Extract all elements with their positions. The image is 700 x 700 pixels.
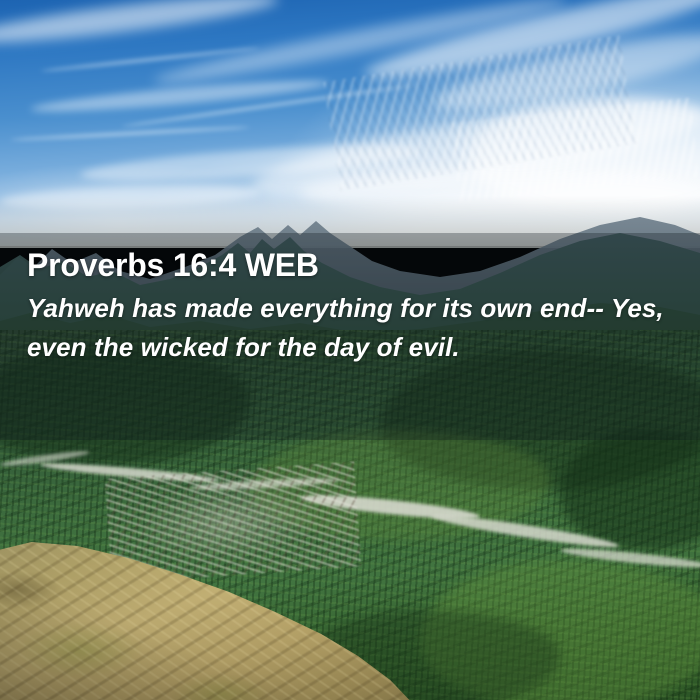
- verse-text-block: Proverbs 16:4 WEB Yahweh has made everyt…: [0, 233, 700, 440]
- verse-reference: Proverbs 16:4 WEB: [27, 245, 672, 285]
- verse-image-card: Proverbs 16:4 WEB Yahweh has made everyt…: [0, 0, 700, 700]
- verse-body-text: Yahweh has made everything for its own e…: [27, 289, 672, 367]
